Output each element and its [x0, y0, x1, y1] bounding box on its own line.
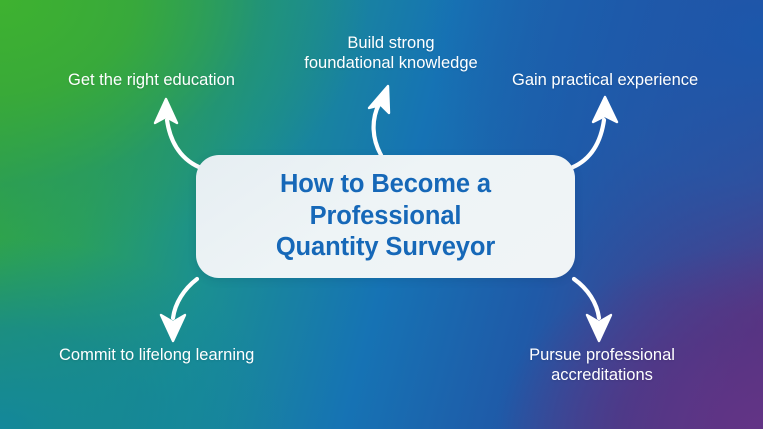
- curved-arrow-up-right-icon: [565, 97, 617, 170]
- curved-arrow-down-right-icon: [574, 279, 611, 341]
- title-line-1: How to Become a: [276, 169, 495, 200]
- infographic-canvas: How to Become a Professional Quantity Su…: [0, 0, 763, 429]
- node-label-line: Get the right education: [68, 71, 235, 91]
- node-label-line: foundational knowledge: [296, 54, 486, 74]
- curved-arrow-down-left-icon: [161, 279, 197, 341]
- title-line-2: Professional: [276, 201, 495, 232]
- title-line-3: Quantity Surveyor: [276, 232, 495, 263]
- curved-arrow-up-icon: [369, 86, 389, 155]
- node-label-build-strong-foundational-knowledge: Build strong foundational knowledge: [296, 34, 486, 74]
- node-label-line: accreditations: [512, 366, 692, 386]
- node-label-get-the-right-education: Get the right education: [68, 71, 235, 91]
- node-label-gain-practical-experience: Gain practical experience: [512, 71, 698, 91]
- node-label-line: Gain practical experience: [512, 71, 698, 91]
- node-label-line: Build strong: [296, 34, 486, 54]
- page-title: How to Become a Professional Quantity Su…: [276, 169, 495, 263]
- node-label-pursue-professional-accreditations: Pursue professional accreditations: [512, 346, 692, 386]
- curved-arrow-up-left-icon: [155, 99, 207, 170]
- node-label-commit-to-lifelong-learning: Commit to lifelong learning: [59, 346, 254, 366]
- node-label-line: Pursue professional: [512, 346, 692, 366]
- central-title-card: How to Become a Professional Quantity Su…: [196, 155, 575, 278]
- node-label-line: Commit to lifelong learning: [59, 346, 254, 366]
